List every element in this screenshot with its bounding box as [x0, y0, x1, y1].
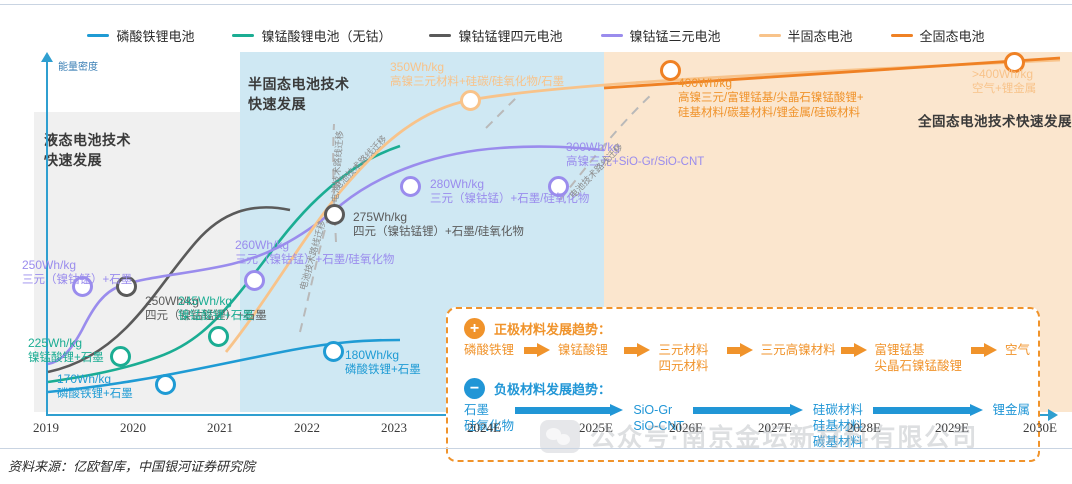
anode-step-3-line1: 硅碳材料	[813, 402, 873, 418]
label-semisolid-350-desc: 高镍三元材料+硅碳/硅氧化物/石墨	[390, 75, 564, 90]
label-lfp-180: 180Wh/kg 磷酸铁锂+石墨	[345, 348, 421, 378]
point-lnmo-2021[interactable]	[208, 326, 229, 347]
cathode-step-4-line1: 三元高镍材料	[761, 342, 841, 358]
label-lfp-180-desc: 磷酸铁锂+石墨	[345, 363, 421, 378]
cathode-step-2-line1: 镍锰酸锂	[558, 342, 625, 358]
cathode-step-5: 富锂锰基 尖晶石镍锰酸锂	[867, 342, 971, 374]
legend-label-allsolid: 全固态电池	[920, 26, 985, 45]
xtick-2025e: 2025E	[579, 420, 613, 436]
legend-item-ncm[interactable]: 镍钴锰三元电池	[601, 26, 721, 45]
legend-item-lnmo[interactable]: 镍锰酸锂电池（无钴）	[232, 26, 391, 45]
anode-step-4: 锂金属	[985, 402, 1031, 418]
cathode-step-2: 镍锰酸锂	[550, 342, 625, 358]
label-allsolid-400: 400Wh/kg 高镍三元/富锂锰基/尖晶石镍锰酸锂+ 硅基材料/碳基材料/锂金…	[678, 76, 864, 121]
legend-label-lnmo: 镍锰酸锂电池（无钴）	[261, 26, 391, 45]
cathode-step-5-line2: 尖晶石镍锰酸锂	[875, 358, 971, 374]
label-lfp-170-desc: 磷酸铁锂+石墨	[57, 387, 133, 402]
point-semisolid-2024[interactable]	[460, 90, 481, 111]
label-lnmo-245-desc: 镍锰酸锂+石墨	[178, 309, 254, 324]
legend-label-semisolid: 半固态电池	[788, 26, 853, 45]
cathode-arrow-1	[524, 343, 550, 357]
label-lnmo-225-desc: 镍锰酸锂+石墨	[28, 351, 104, 366]
label-lfp-180-value: 180Wh/kg	[345, 348, 421, 363]
label-lfp-170: 170Wh/kg 磷酸铁锂+石墨	[57, 372, 133, 402]
label-allsolid-400plus-desc: 空气+锂金属	[972, 82, 1036, 97]
label-lfp-170-value: 170Wh/kg	[57, 372, 133, 387]
label-semisolid-350-value: 350Wh/kg	[390, 60, 564, 75]
label-nmcl-275-value: 275Wh/kg	[353, 210, 524, 225]
anode-arrow-1	[515, 404, 625, 417]
legend-swatch-semisolid	[759, 34, 781, 37]
label-ncm-280-desc: 三元（镍钴锰）+石墨/硅氧化物	[430, 192, 589, 207]
legend-item-allsolid[interactable]: 全固态电池	[891, 26, 985, 45]
anode-step-1-line1: 石墨	[464, 402, 515, 418]
label-ncm-250-value: 250Wh/kg	[22, 258, 132, 273]
cathode-step-6-line1: 空气	[1005, 342, 1030, 358]
cathode-arrow-5	[971, 343, 997, 357]
xtick-2026e: 2026E	[669, 420, 703, 436]
label-allsolid-400-value: 400Wh/kg	[678, 76, 864, 91]
label-semisolid-350: 350Wh/kg 高镍三元材料+硅碳/硅氧化物/石墨	[390, 60, 564, 90]
point-ncm-2022[interactable]	[400, 176, 421, 197]
label-nmcl-275: 275Wh/kg 四元（镍钴锰锂）+石墨/硅氧化物	[353, 210, 524, 240]
xtick-2029e: 2029E	[935, 420, 969, 436]
top-divider	[0, 4, 1072, 5]
cathode-arrow-3	[727, 343, 753, 357]
label-allsolid-400plus: >400Wh/kg 空气+锂金属	[972, 67, 1036, 97]
legend-label-lfp: 磷酸铁锂电池	[116, 26, 194, 45]
plus-icon: +	[464, 318, 485, 339]
anode-arrow-3	[873, 404, 985, 417]
xtick-2024e: 2024E	[467, 420, 501, 436]
x-axis-tick-labels: 2019 2020 2021 2022 2023 2024E 2025E 202…	[0, 420, 1072, 440]
xtick-2030e: 2030E	[1023, 420, 1057, 436]
label-lnmo-225-value: 225Wh/kg	[28, 336, 104, 351]
cathode-heading: + 正极材料发展趋势：	[464, 318, 611, 339]
legend-swatch-lnmo	[232, 34, 254, 37]
legend-swatch-allsolid	[891, 34, 913, 37]
label-ncm-250-desc: 三元（镍钴锰）+石墨	[22, 273, 132, 288]
migration-dash-3	[486, 94, 520, 128]
label-allsolid-400-desc2: 硅基材料/碳基材料/锂金属/硅碳材料	[678, 106, 864, 121]
label-lnmo-225: 225Wh/kg 镍锰酸锂+石墨	[28, 336, 104, 366]
point-lnmo-2020[interactable]	[110, 346, 131, 367]
chart-root: 磷酸铁锂电池 镍锰酸锂电池（无钴） 镍钴锰锂四元电池 镍钴锰三元电池 半固态电池…	[0, 0, 1072, 484]
label-lnmo-245: 245Wh/kg 镍锰酸锂+石墨	[178, 294, 254, 324]
xtick-2021: 2021	[207, 420, 233, 436]
legend-item-semisolid[interactable]: 半固态电池	[759, 26, 853, 45]
legend-label-ncm: 镍钴锰三元电池	[630, 26, 721, 45]
legend-swatch-ncm	[601, 34, 623, 37]
xtick-2020: 2020	[120, 420, 146, 436]
label-ncm-300-value: 300Wh/kg	[566, 140, 704, 155]
cathode-step-5-line1: 富锂锰基	[875, 342, 971, 358]
label-ncm-300: 300Wh/kg 高镍三元+SiO-Gr/SiO-CNT	[566, 140, 704, 170]
anode-title: 负极材料发展趋势：	[494, 379, 611, 398]
legend-item-lfp[interactable]: 磷酸铁锂电池	[87, 26, 194, 45]
label-nmcl-275-desc: 四元（镍钴锰锂）+石墨/硅氧化物	[353, 225, 524, 240]
label-ncm-250: 250Wh/kg 三元（镍钴锰）+石墨	[22, 258, 132, 288]
cathode-step-3: 三元材料 四元材料	[650, 342, 726, 374]
label-lnmo-245-value: 245Wh/kg	[178, 294, 254, 309]
cathode-step-1: 磷酸铁锂	[464, 342, 524, 358]
point-lfp-2022[interactable]	[323, 341, 344, 362]
xtick-2027e: 2027E	[758, 420, 792, 436]
cathode-step-1-line1: 磷酸铁锂	[464, 342, 524, 358]
xtick-2028e: 2028E	[847, 420, 881, 436]
bottom-divider	[0, 448, 1072, 449]
xtick-2019: 2019	[33, 420, 59, 436]
cathode-chain: 磷酸铁锂 镍锰酸锂 三元材料 四元材料 三元高镍材料 富锂锰基	[464, 342, 1030, 374]
legend-swatch-lfp	[87, 34, 109, 37]
anode-step-2-line1: SiO-Gr	[633, 402, 693, 418]
point-ncm-2021[interactable]	[244, 270, 265, 291]
cathode-step-3-line2: 四元材料	[658, 358, 726, 374]
source-footer: 资料来源：亿欧智库，中国银河证券研究院	[8, 456, 255, 475]
label-ncm-300-desc: 高镍三元+SiO-Gr/SiO-CNT	[566, 155, 704, 170]
label-allsolid-400plus-value: >400Wh/kg	[972, 67, 1036, 82]
cathode-step-6: 空气	[997, 342, 1030, 358]
cathode-arrow-2	[624, 343, 650, 357]
legend-label-nmcl: 镍钴锰锂四元电池	[458, 26, 562, 45]
minus-icon: −	[464, 378, 485, 399]
cathode-step-4: 三元高镍材料	[753, 342, 841, 358]
anode-arrow-2	[693, 404, 805, 417]
cathode-arrow-4	[841, 343, 867, 357]
xtick-2023: 2023	[381, 420, 407, 436]
label-ncm-280-value: 280Wh/kg	[430, 177, 589, 192]
plot-area: 液态电池技术 快速发展 半固态电池技术 快速发展 全固态电池技术快速发展 能量密…	[0, 52, 1072, 424]
chart-legend: 磷酸铁锂电池 镍锰酸锂电池（无钴） 镍钴锰锂四元电池 镍钴锰三元电池 半固态电池…	[0, 24, 1072, 46]
xtick-2022: 2022	[294, 420, 320, 436]
anode-heading: − 负极材料发展趋势：	[464, 378, 611, 399]
label-allsolid-400-desc1: 高镍三元/富锂锰基/尖晶石镍锰酸锂+	[678, 91, 864, 106]
cathode-title: 正极材料发展趋势：	[494, 319, 611, 338]
point-lfp-2020[interactable]	[155, 374, 176, 395]
legend-item-nmcl[interactable]: 镍钴锰锂四元电池	[429, 26, 562, 45]
legend-swatch-nmcl	[429, 34, 451, 37]
cathode-step-3-line1: 三元材料	[658, 342, 726, 358]
anode-step-4-line1: 锂金属	[993, 402, 1031, 418]
